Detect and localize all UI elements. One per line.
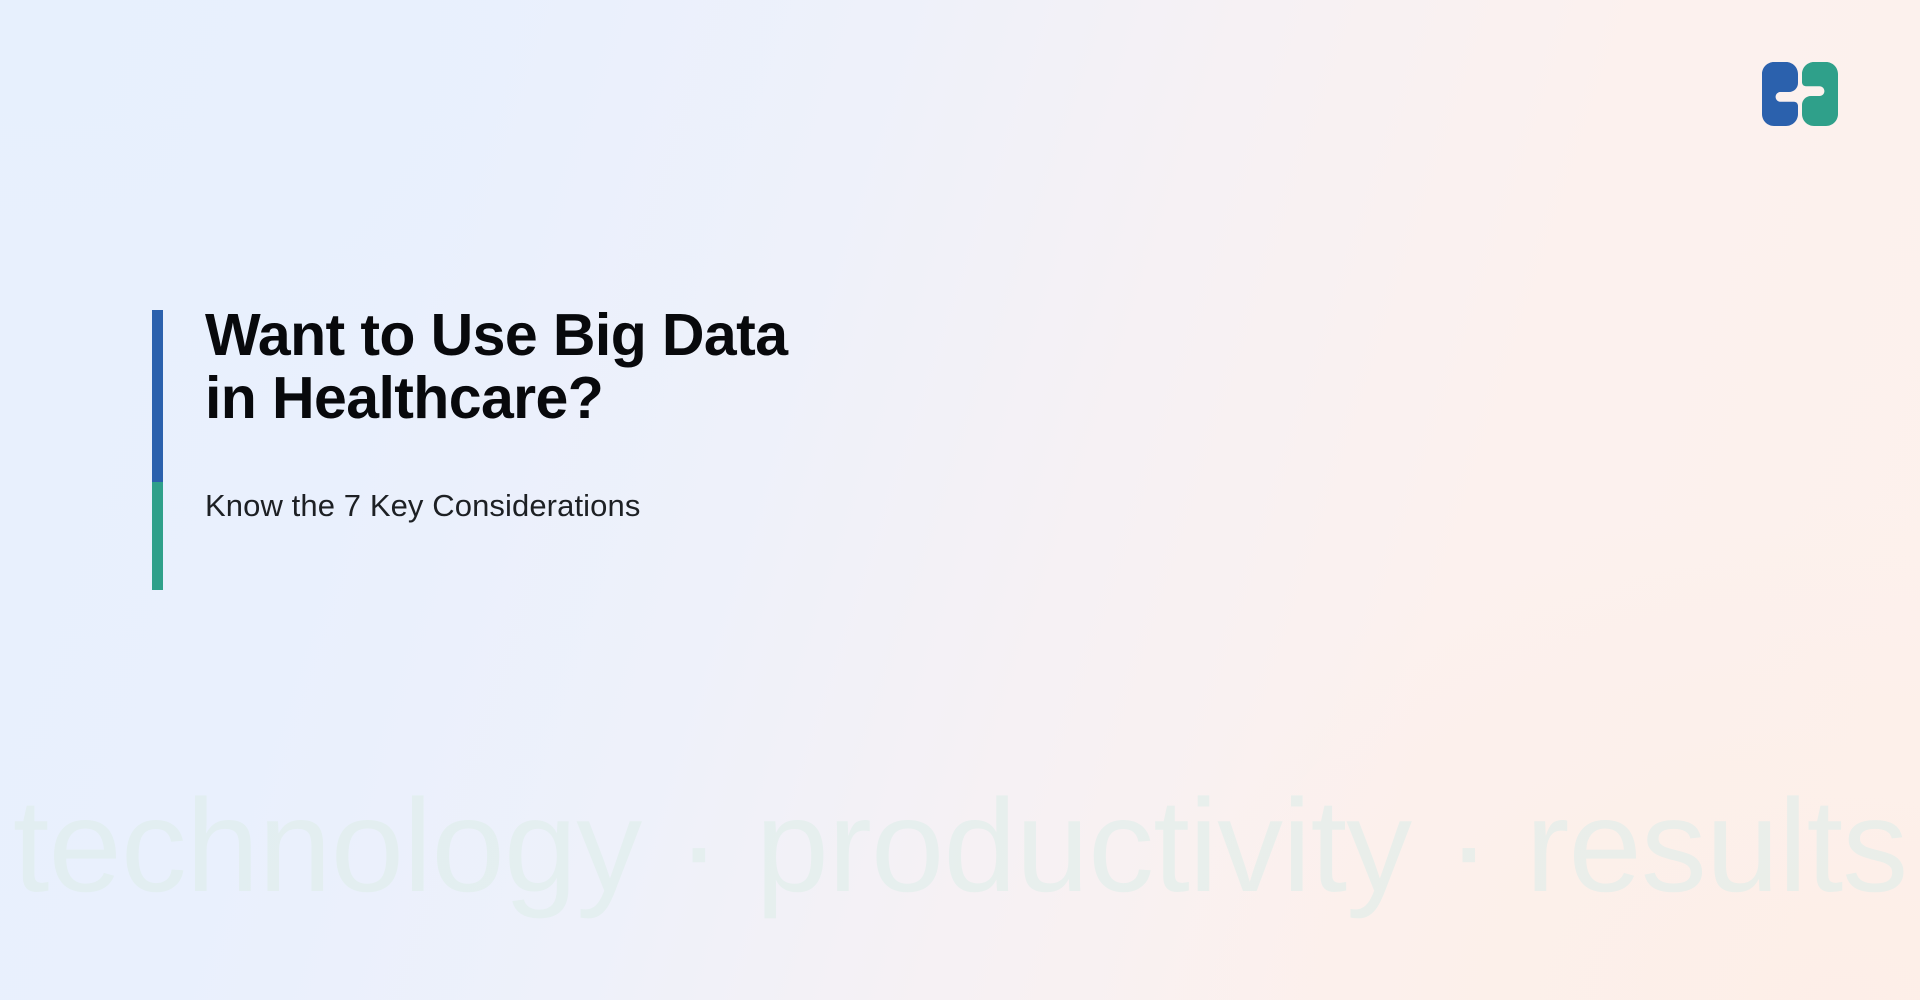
accent-bar-segment-green xyxy=(152,482,163,590)
accent-bar-segment-blue xyxy=(152,310,163,482)
logo-mark-a xyxy=(1802,62,1838,126)
headline-block: Want to Use Big Data in Healthcare? Know… xyxy=(152,310,787,590)
slide-canvas: technology · productivity · results Want… xyxy=(0,0,1920,1000)
page-subtitle: Know the 7 Key Considerations xyxy=(205,487,787,524)
text-column: Want to Use Big Data in Healthcare? Know… xyxy=(205,310,787,590)
logo-mark-e xyxy=(1762,62,1798,126)
accent-bar xyxy=(152,310,163,590)
brand-logo[interactable] xyxy=(1752,58,1848,130)
watermark-tagline: technology · productivity · results xyxy=(0,780,1920,912)
page-title: Want to Use Big Data in Healthcare? xyxy=(205,304,787,430)
